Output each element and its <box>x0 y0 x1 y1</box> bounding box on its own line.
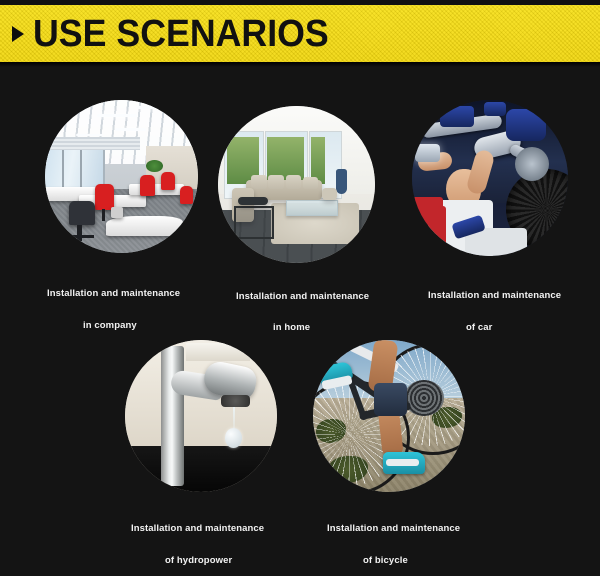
scenario-image-home <box>218 106 375 263</box>
caption-car-line1: Installation and maintenance <box>428 290 561 301</box>
office-interior-photo <box>45 100 198 253</box>
caption-home-line1: Installation and maintenance <box>236 291 369 302</box>
scenario-image-car <box>412 100 568 256</box>
bicycle-wheel-repair-photo <box>313 340 465 492</box>
caption-hydropower-line1: Installation and maintenance <box>131 523 264 534</box>
car-mechanic-under-vehicle-photo <box>412 100 568 256</box>
scenario-image-hydropower <box>125 340 277 492</box>
page-title: USE SCENARIOS <box>33 15 329 53</box>
header-shadow <box>0 62 600 67</box>
living-room-interior-photo <box>218 106 375 263</box>
caption-hydropower-line2: of hydropower <box>165 555 232 566</box>
scenario-image-bicycle <box>313 340 465 492</box>
caption-company-line1: Installation and maintenance <box>47 288 180 299</box>
header-banner: USE SCENARIOS <box>0 5 600 62</box>
caption-home-line2: in home <box>273 322 310 333</box>
caption-bicycle-line1: Installation and maintenance <box>327 523 460 534</box>
scenario-image-company <box>45 100 198 253</box>
caption-car-line2: of car <box>466 322 492 333</box>
use-scenarios-banner: USE SCENARIOS <box>0 0 600 576</box>
chrome-faucet-dripping-photo <box>125 340 277 492</box>
triangle-right-icon <box>12 26 24 42</box>
caption-bicycle-line2: of bicycle <box>363 555 408 566</box>
caption-company-line2: in company <box>83 320 137 331</box>
